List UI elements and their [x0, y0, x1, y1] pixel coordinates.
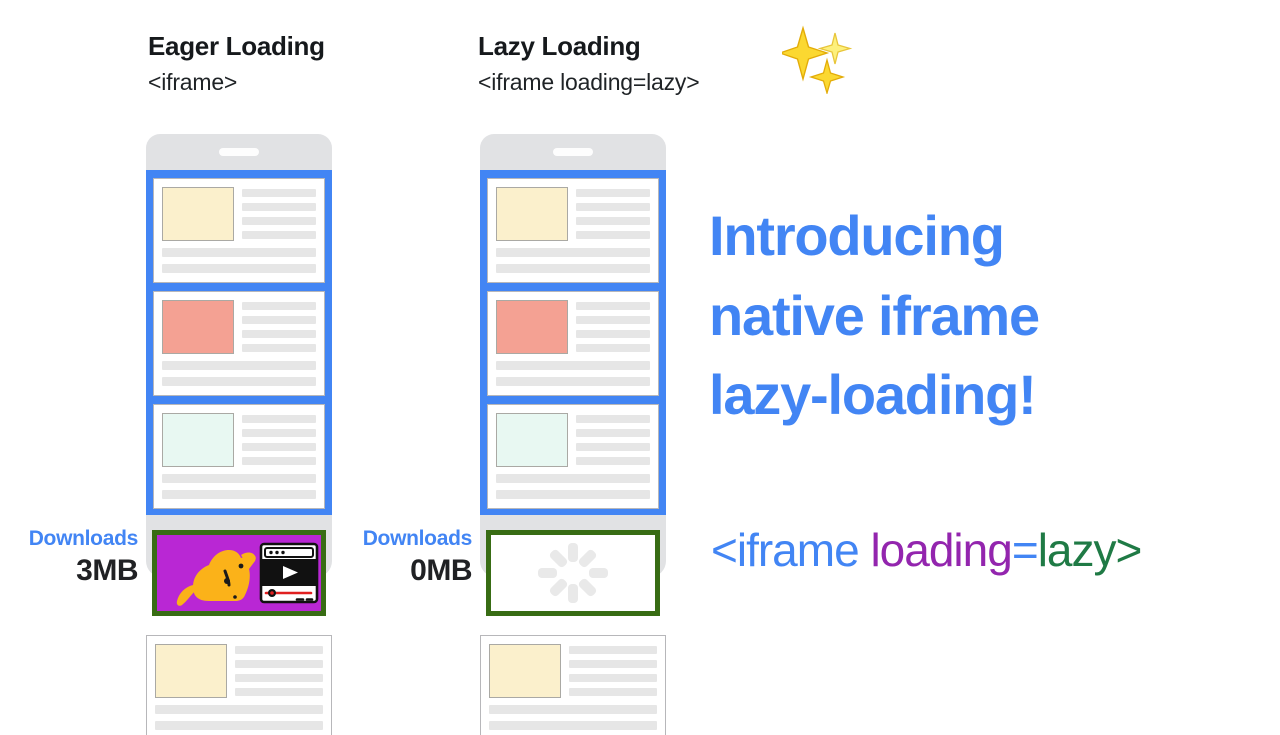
text-line: [576, 429, 650, 437]
downloads-value: 3MB: [0, 554, 138, 588]
lazy-placeholder: [491, 535, 655, 611]
slide-canvas: Eager Loading <iframe> Lazy Loading <ifr…: [0, 0, 1280, 735]
column-heading-lazy: Lazy Loading <iframe loading=lazy>: [478, 31, 699, 96]
sparkles-icon: [782, 22, 860, 94]
downloads-indicator-eager: Downloads 3MB: [0, 527, 146, 588]
text-line: [576, 344, 650, 352]
video-player-icon: [261, 544, 317, 602]
text-line: [569, 646, 657, 654]
text-line: [496, 248, 650, 257]
text-line: [162, 490, 316, 499]
feed-card: [153, 178, 325, 283]
loading-spinner-icon: [491, 535, 655, 611]
phone-screen: [146, 170, 332, 515]
feed-card: [153, 404, 325, 509]
text-line: [155, 721, 323, 730]
headline-line-2: native iframe: [709, 276, 1229, 356]
column-heading-eager: Eager Loading <iframe>: [148, 31, 325, 96]
text-line: [242, 231, 316, 239]
text-line: [576, 231, 650, 239]
snippet-attribute: loading: [870, 524, 1011, 576]
text-line: [576, 330, 650, 338]
text-line: [242, 330, 316, 338]
text-line: [496, 377, 650, 386]
text-line: [576, 443, 650, 451]
text-line: [489, 721, 657, 730]
text-line: [242, 302, 316, 310]
text-line: [569, 688, 657, 696]
phone-mockup-lazy: [480, 134, 666, 515]
feed-card: [480, 635, 666, 735]
text-line: [235, 660, 323, 668]
snippet-value: lazy>: [1038, 524, 1142, 576]
text-line: [576, 217, 650, 225]
downloads-value: 0MB: [334, 554, 472, 588]
text-line: [496, 474, 650, 483]
downloads-indicator-lazy: Downloads 0MB: [334, 527, 480, 588]
feed-card: [487, 404, 659, 509]
text-line: [235, 674, 323, 682]
card-thumbnail: [489, 644, 561, 698]
downloads-label: Downloads: [0, 527, 138, 551]
card-thumbnail: [496, 187, 568, 241]
text-line: [242, 203, 316, 211]
text-line: [162, 361, 316, 370]
text-line: [242, 429, 316, 437]
text-line: [569, 674, 657, 682]
text-line: [489, 705, 657, 714]
snippet-equals: =: [1012, 524, 1038, 576]
text-line: [242, 217, 316, 225]
text-line: [576, 189, 650, 197]
text-line: [576, 203, 650, 211]
text-line: [496, 490, 650, 499]
code-snippet: <iframe loading=lazy>: [711, 523, 1141, 577]
iframe-media-slot-eager[interactable]: [152, 530, 326, 616]
snippet-tag-open: <iframe: [711, 524, 870, 576]
text-line: [242, 344, 316, 352]
phone-screen: [480, 170, 666, 515]
column-title: Eager Loading: [148, 31, 325, 62]
feed-card: [146, 635, 332, 735]
text-line: [162, 264, 316, 273]
column-code-snippet: <iframe loading=lazy>: [478, 69, 699, 96]
headline-line-1: Introducing: [709, 196, 1229, 276]
text-line: [242, 457, 316, 465]
text-line: [242, 189, 316, 197]
text-line: [576, 302, 650, 310]
text-line: [576, 415, 650, 423]
feed-card: [487, 178, 659, 283]
downloads-label: Downloads: [334, 527, 472, 551]
dog-illustration-icon: [177, 550, 256, 606]
card-thumbnail: [162, 300, 234, 354]
headline-line-3: lazy-loading!: [709, 355, 1229, 435]
phone-speaker-slot: [553, 148, 593, 156]
text-line: [235, 688, 323, 696]
card-thumbnail: [162, 413, 234, 467]
phone-top-bezel: [480, 134, 666, 170]
text-line: [162, 474, 316, 483]
text-line: [162, 377, 316, 386]
text-line: [496, 264, 650, 273]
text-line: [576, 316, 650, 324]
phone-mockup-eager: [146, 134, 332, 515]
text-line: [242, 316, 316, 324]
column-title: Lazy Loading: [478, 31, 699, 62]
text-line: [569, 660, 657, 668]
text-line: [235, 646, 323, 654]
phone-top-bezel: [146, 134, 332, 170]
phone-speaker-slot: [219, 148, 259, 156]
dog-and-video-illustration: [157, 535, 321, 611]
iframe-media-slot-lazy[interactable]: [486, 530, 660, 616]
card-thumbnail: [155, 644, 227, 698]
card-thumbnail: [496, 413, 568, 467]
feed-card: [487, 291, 659, 396]
text-line: [162, 248, 316, 257]
loaded-video-embed: [157, 535, 321, 611]
card-thumbnail: [496, 300, 568, 354]
column-code-snippet: <iframe>: [148, 69, 325, 96]
headline: Introducing native iframe lazy-loading!: [709, 196, 1229, 435]
text-line: [155, 705, 323, 714]
text-line: [496, 361, 650, 370]
card-thumbnail: [162, 187, 234, 241]
feed-card: [153, 291, 325, 396]
text-line: [576, 457, 650, 465]
text-line: [242, 415, 316, 423]
text-line: [242, 443, 316, 451]
